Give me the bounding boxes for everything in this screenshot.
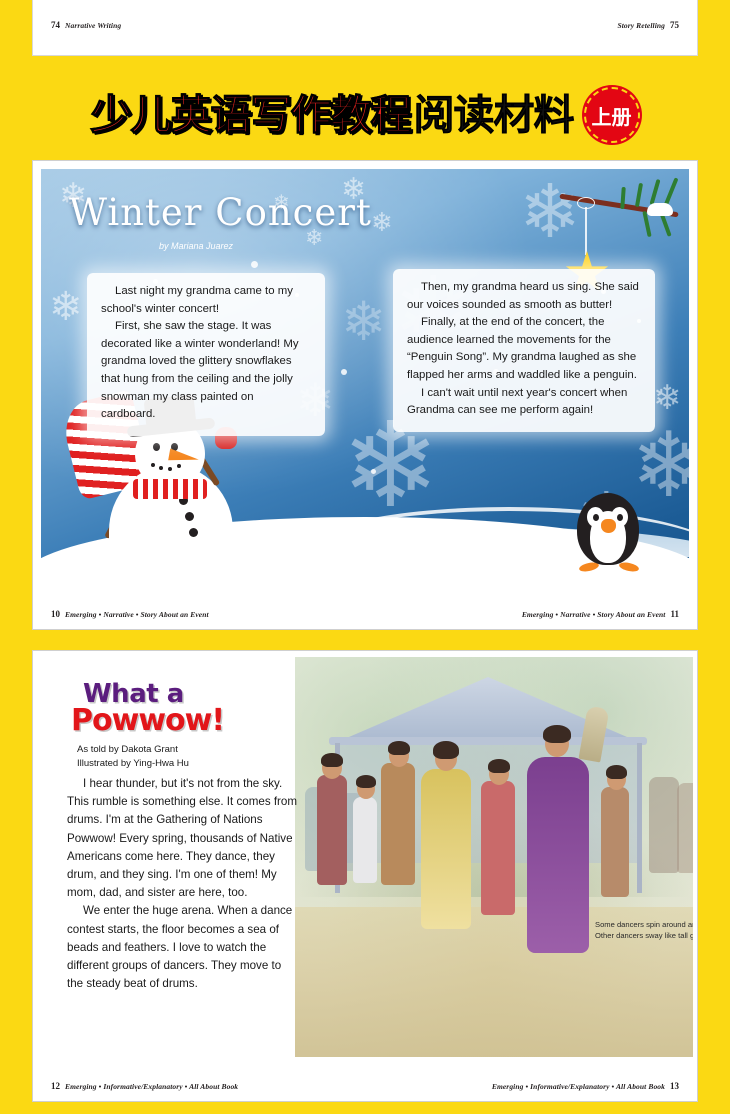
- illustration-caption: Some dancers spin around and take many s…: [595, 919, 693, 941]
- spread-winter-footer-right: Emerging • Narrative • Story About an Ev…: [522, 609, 679, 619]
- volume-badge: 上册: [584, 87, 640, 143]
- snowman-scarf: [133, 479, 207, 499]
- dancer-hair: [356, 775, 376, 788]
- spread-winter-footer-left: 10 Emerging • Narrative • Story About an…: [51, 609, 209, 619]
- dancer-hair: [606, 765, 627, 779]
- powwow-title-line2: Powwow!: [71, 703, 224, 738]
- powwow-illustration: Some dancers spin around and take many s…: [295, 657, 693, 1057]
- footer-label-right: Emerging • Informative/Explanatory • All…: [492, 1082, 665, 1091]
- dancer-figure-adult: [381, 763, 415, 885]
- crowd-figure: [677, 783, 693, 873]
- footer-label-left: Emerging • Narrative • Story About an Ev…: [65, 610, 209, 619]
- star-hanging-string: [585, 207, 587, 255]
- top-panel-footer-left: 74 Narrative Writing: [51, 20, 121, 30]
- tent-post: [637, 743, 642, 893]
- snow-dot: [341, 369, 347, 375]
- snow-dot: [251, 261, 258, 268]
- penguin-illustration: [577, 491, 641, 571]
- winter-concert-illustration: ❄ ❄ ❄ ❄ ❄ ❄ ❄ ❄ ❄ ❄ ❄ ❄ ❄ ❄: [41, 169, 689, 609]
- paragraph: I hear thunder, but it's not from the sk…: [67, 775, 299, 902]
- page-number-12: 12: [51, 1081, 60, 1091]
- spread-powwow-footer: 12 Emerging • Informative/Explanatory • …: [41, 1077, 689, 1097]
- pine-needle: [635, 183, 643, 207]
- paragraph: Finally, at the end of the concert, the …: [407, 314, 641, 384]
- powwow-illustrator-line: Illustrated by Ying-Hwa Hu: [77, 757, 189, 771]
- snow-dot: [371, 469, 376, 474]
- footer-label-left: Emerging • Informative/Explanatory • All…: [65, 1082, 238, 1091]
- snowman-button: [189, 528, 198, 537]
- page-number-11: 11: [670, 609, 679, 619]
- pine-needle: [649, 179, 660, 205]
- dancer-figure-child: [353, 797, 377, 883]
- powwow-credits: As told by Dakota Grant Illustrated by Y…: [77, 743, 189, 771]
- page-number-10: 10: [51, 609, 60, 619]
- snowman-eye: [153, 443, 160, 451]
- dancer-figure-boy-left: [317, 775, 347, 885]
- spread-winter-concert: ❄ ❄ ❄ ❄ ❄ ❄ ❄ ❄ ❄ ❄ ❄ ❄ ❄ ❄: [32, 160, 698, 630]
- winter-text-block-right: Then, my grandma heard us sing. She said…: [393, 269, 655, 432]
- winter-concert-title: Winter Concert: [69, 191, 372, 234]
- powwow-body-text: I hear thunder, but it's not from the sk…: [67, 775, 299, 993]
- paragraph: I can't wait until next year's concert w…: [407, 385, 641, 420]
- dancer-hair: [488, 759, 510, 773]
- page-number-74: 74: [51, 20, 60, 30]
- spread-powwow-footer-left: 12 Emerging • Informative/Explanatory • …: [51, 1081, 238, 1091]
- product-listing-image: in a story is the setting. more details.…: [0, 0, 730, 1114]
- snowman-button: [185, 512, 194, 521]
- snowflake-icon: ❄: [653, 381, 682, 415]
- winter-concert-byline: by Mariana Juarez: [159, 241, 233, 251]
- paragraph: Last night my grandma came to my school'…: [101, 283, 311, 318]
- dancer-hair: [388, 741, 410, 755]
- paragraph: We enter the huge arena. When a dance co…: [67, 902, 299, 993]
- dancer-hair: [433, 741, 459, 759]
- pine-branch-with-star: [549, 175, 679, 245]
- winter-text-block-left: Last night my grandma came to my school'…: [87, 273, 325, 436]
- top-book-page-panel: in a story is the setting. more details.…: [32, 0, 698, 56]
- paragraph: Then, my grandma heard us sing. She said…: [407, 279, 641, 314]
- dancer-figure-red: [481, 781, 515, 915]
- top-panel-footer: 74 Narrative Writing Story Retelling 75: [33, 17, 697, 39]
- page-number-75: 75: [670, 20, 679, 30]
- banner-black-text: 阅读材料: [414, 92, 574, 138]
- footer-label-right: Emerging • Narrative • Story About an Ev…: [522, 610, 666, 619]
- snow-on-branch: [647, 203, 673, 216]
- dancer-hair: [543, 725, 571, 743]
- snowflake-icon: ❄: [371, 209, 393, 235]
- footer-label-story-retelling: Story Retelling: [617, 21, 665, 30]
- spread-powwow: Some dancers spin around and take many s…: [32, 650, 698, 1102]
- penguin-pupil: [593, 514, 599, 521]
- crowd-figure: [649, 777, 679, 873]
- powwow-author-line: As told by Dakota Grant: [77, 743, 189, 757]
- footer-label-narrative-writing: Narrative Writing: [65, 21, 121, 30]
- dancer-figure-purple: [527, 757, 589, 953]
- banner-title: 少儿英语写作教程 阅读材料 上册: [0, 75, 730, 155]
- banner-red-text: 少儿英语写作教程: [91, 92, 411, 138]
- page-number-13: 13: [670, 1081, 679, 1091]
- paragraph: First, she saw the stage. It was decorat…: [101, 318, 311, 424]
- penguin-beak: [601, 519, 616, 533]
- snowflake-icon: ❄: [49, 287, 83, 327]
- dancer-hair: [321, 753, 343, 767]
- penguin-pupil: [617, 514, 623, 521]
- snowman-mouth: [151, 461, 185, 471]
- dancer-figure-fringe-yellow: [421, 769, 471, 929]
- spread-winter-footer: 10 Emerging • Narrative • Story About an…: [41, 605, 689, 625]
- top-panel-footer-right: Story Retelling 75: [617, 20, 679, 30]
- snowflake-icon: ❄: [341, 295, 386, 349]
- dancer-figure-right: [601, 787, 629, 897]
- spread-powwow-footer-right: Emerging • Informative/Explanatory • All…: [492, 1081, 679, 1091]
